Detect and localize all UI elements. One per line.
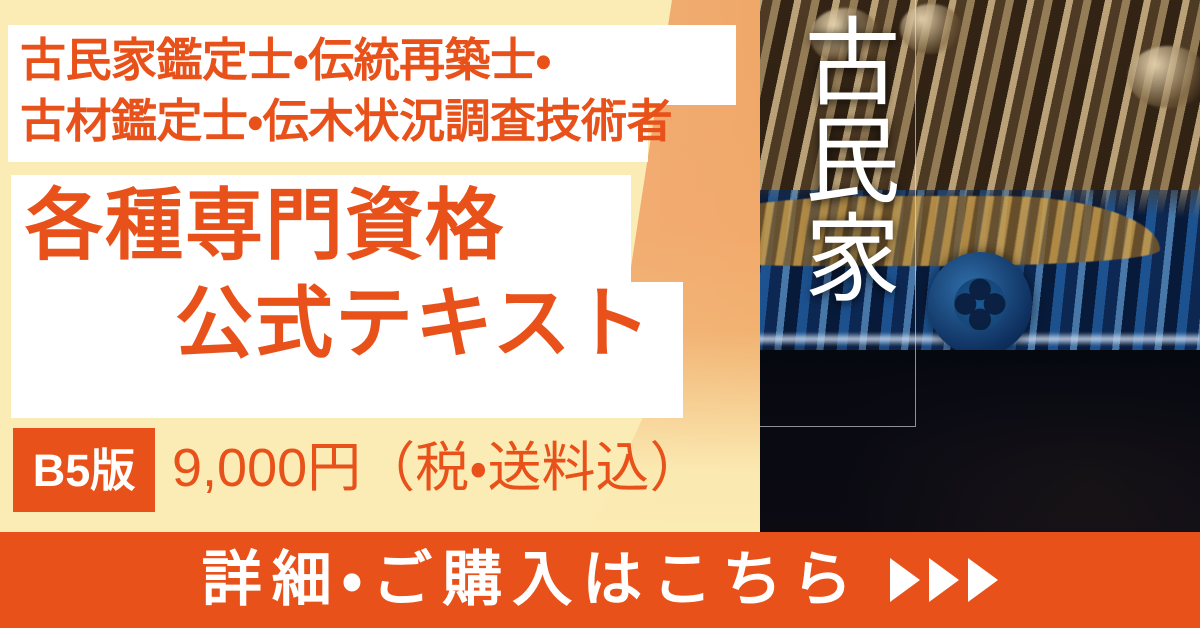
chevron-right-icon xyxy=(929,558,959,602)
format-badge-label: B5版 xyxy=(33,448,136,493)
qualification-list-text: 古民家鑑定士・伝統再築士・ 古材鑑定士・伝木状況調査技術者 xyxy=(20,30,732,152)
cta-label: 詳細・ご購入はこちら xyxy=(202,550,862,610)
format-badge: B5版 xyxy=(13,428,155,512)
chevron-right-icon xyxy=(968,558,998,602)
chevron-right-icon xyxy=(890,558,920,602)
cta-bar[interactable]: 詳細・ご購入はこちら xyxy=(0,532,1200,628)
family-crest-ornament xyxy=(928,252,1032,356)
price-text: 9,000円（税・送料込） xyxy=(172,432,704,505)
headline-primary: 各種専門資格 xyxy=(25,186,505,264)
cta-arrows xyxy=(890,558,998,602)
carving-detail xyxy=(1128,46,1200,108)
book-cover-title: 古民家 xyxy=(775,12,895,306)
headline-secondary: 公式テキスト xyxy=(175,284,653,362)
promo-banner: 古民家 伝統構法、 古民家活用のための調査と再生の 古民家鑑定士・伝統再築士・ … xyxy=(0,0,1200,628)
